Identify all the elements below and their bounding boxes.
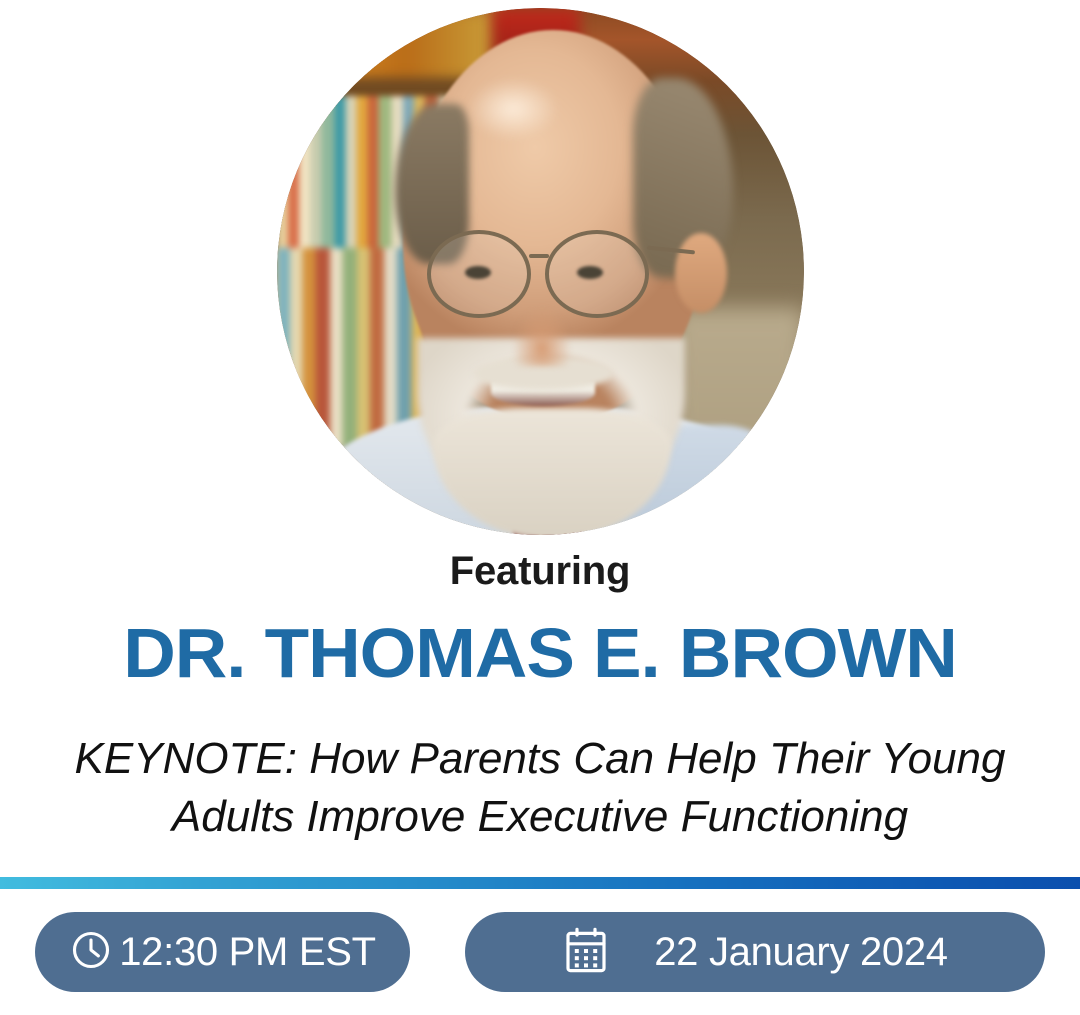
portrait-ear <box>675 233 727 313</box>
featuring-label: Featuring <box>0 549 1080 594</box>
portrait-nose <box>513 308 571 366</box>
speaker-portrait-photo <box>277 8 804 535</box>
event-date-badge: 22 January 2024 <box>465 912 1045 992</box>
event-date-value: 22 January 2024 <box>654 930 948 975</box>
clock-icon <box>69 928 113 977</box>
speaker-name: DR. THOMAS E. BROWN <box>0 613 1080 693</box>
portrait-eye-right <box>577 266 603 279</box>
event-time-badge: 12:30 PM EST <box>35 912 410 992</box>
calendar-icon <box>562 925 610 980</box>
avatar <box>277 8 804 535</box>
portrait-eye-left <box>465 266 491 279</box>
event-time-value: 12:30 PM EST <box>119 930 376 975</box>
gradient-divider <box>0 877 1080 889</box>
portrait-forehead-highlight <box>467 78 559 140</box>
portrait-glasses-bridge <box>529 254 549 258</box>
session-title: KEYNOTE: How Parents Can Help Their Youn… <box>0 730 1080 846</box>
speaker-announcement-card: Featuring DR. THOMAS E. BROWN KEYNOTE: H… <box>0 0 1080 1015</box>
